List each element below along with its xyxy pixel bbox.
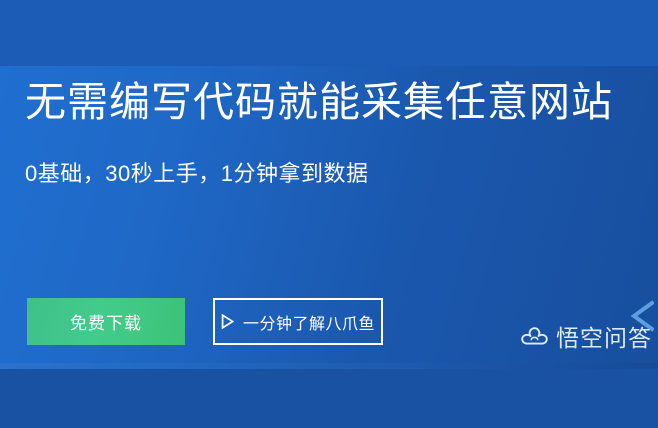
promo-banner: 无需编写代码就能采集任意网站 0基础，30秒上手，1分钟拿到数据 免费下载 一分…: [0, 0, 658, 428]
cta-button-row: 免费下载 一分钟了解八爪鱼: [27, 298, 383, 345]
page-title: 无需编写代码就能采集任意网站: [25, 76, 613, 128]
watermark: 悟空问答: [521, 319, 652, 353]
page-subtitle: 0基础，30秒上手，1分钟拿到数据: [25, 158, 368, 190]
watch-intro-video-button[interactable]: 一分钟了解八爪鱼: [213, 298, 383, 345]
free-download-button[interactable]: 免费下载: [27, 298, 185, 345]
wukong-cloud-crown-icon: [521, 326, 548, 347]
background-band-bottom-highlight: [0, 363, 658, 369]
watch-intro-video-label: 一分钟了解八爪鱼: [243, 310, 375, 334]
background-band-top: [0, 0, 658, 66]
play-triangle-icon: [221, 314, 234, 329]
background-band-bottom: [0, 363, 658, 428]
watermark-label: 悟空问答: [556, 319, 652, 353]
